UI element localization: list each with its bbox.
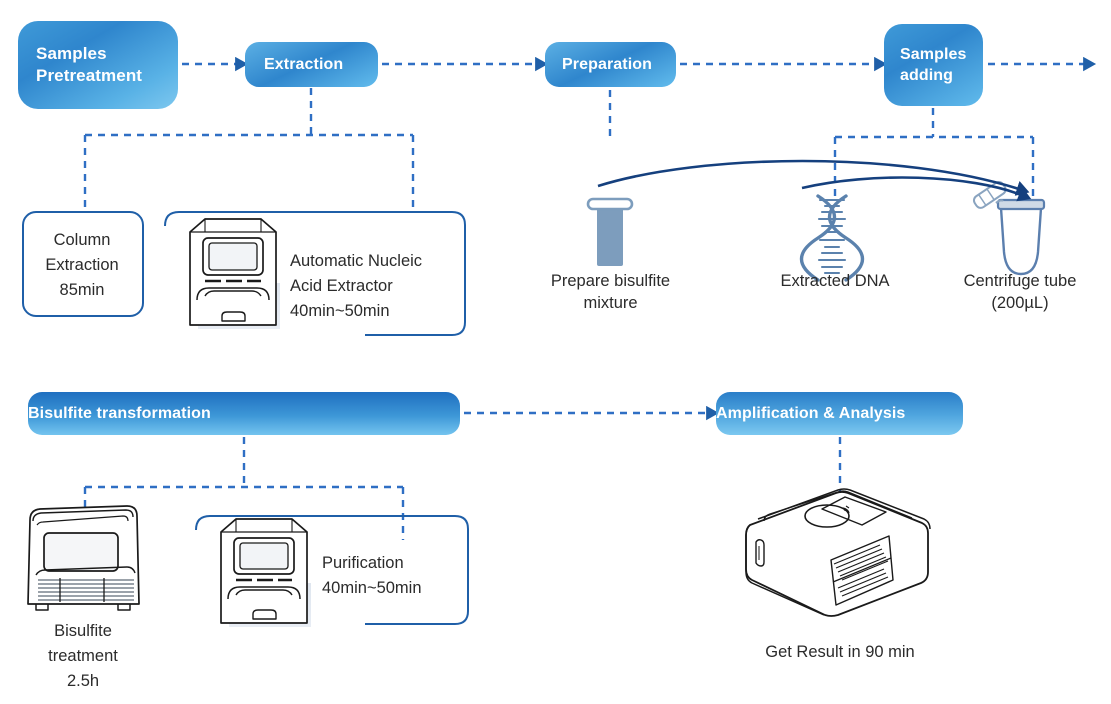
automatic-extractor-caption: Automatic Nucleic Acid Extractor 40min~5… [290,249,470,324]
extracted-dna-caption: Extracted DNA [765,270,905,292]
flow-step-extraction[interactable]: Extraction [245,42,378,87]
bisulfite-treatment-caption: Bisulfite treatment 2.5h [28,619,138,694]
purification-caption: Purification 40min~50min [322,551,502,601]
get-result-caption: Get Result in 90 min [740,641,940,663]
thermal-cycler-icon [28,506,139,610]
workflow-diagram: Samples Pretreatment Extraction Preparat… [0,0,1111,704]
flow-dashed-arrows [182,64,1086,413]
dna-helix-icon [802,196,863,280]
flow-step-label: Samples Pretreatment [36,43,178,87]
column-extraction-caption: Column Extraction 85min [27,228,137,303]
flow-step-label: Amplification & Analysis [716,405,963,423]
prepare-bisulfite-mixture-caption: Prepare bisulfite mixture [528,270,693,314]
flow-step-samples-adding[interactable]: Samples adding [884,24,983,106]
nucleic-acid-extractor-icon-top [190,219,280,329]
flow-step-label: Preparation [562,56,676,74]
flow-step-label: Extraction [264,56,378,74]
analyzer-instrument-icon [746,489,930,616]
flow-step-bisulfite-transformation[interactable]: Bisulfite transformation [28,392,460,435]
transfer-arrows [598,161,1024,196]
flow-step-amplification-analysis[interactable]: Amplification & Analysis [716,392,963,435]
flow-step-label: Samples adding [900,44,983,86]
flow-step-label: Bisulfite transformation [28,405,460,423]
centrifuge-tube-caption: Centrifuge tube (200µL) [945,270,1095,314]
nucleic-acid-extractor-icon-bottom [221,519,311,627]
flow-step-samples-pretreatment[interactable]: Samples Pretreatment [18,21,178,109]
flow-step-preparation[interactable]: Preparation [545,42,676,87]
bracket-samples-adding [835,108,1033,196]
reagent-tube-icon [588,199,632,266]
